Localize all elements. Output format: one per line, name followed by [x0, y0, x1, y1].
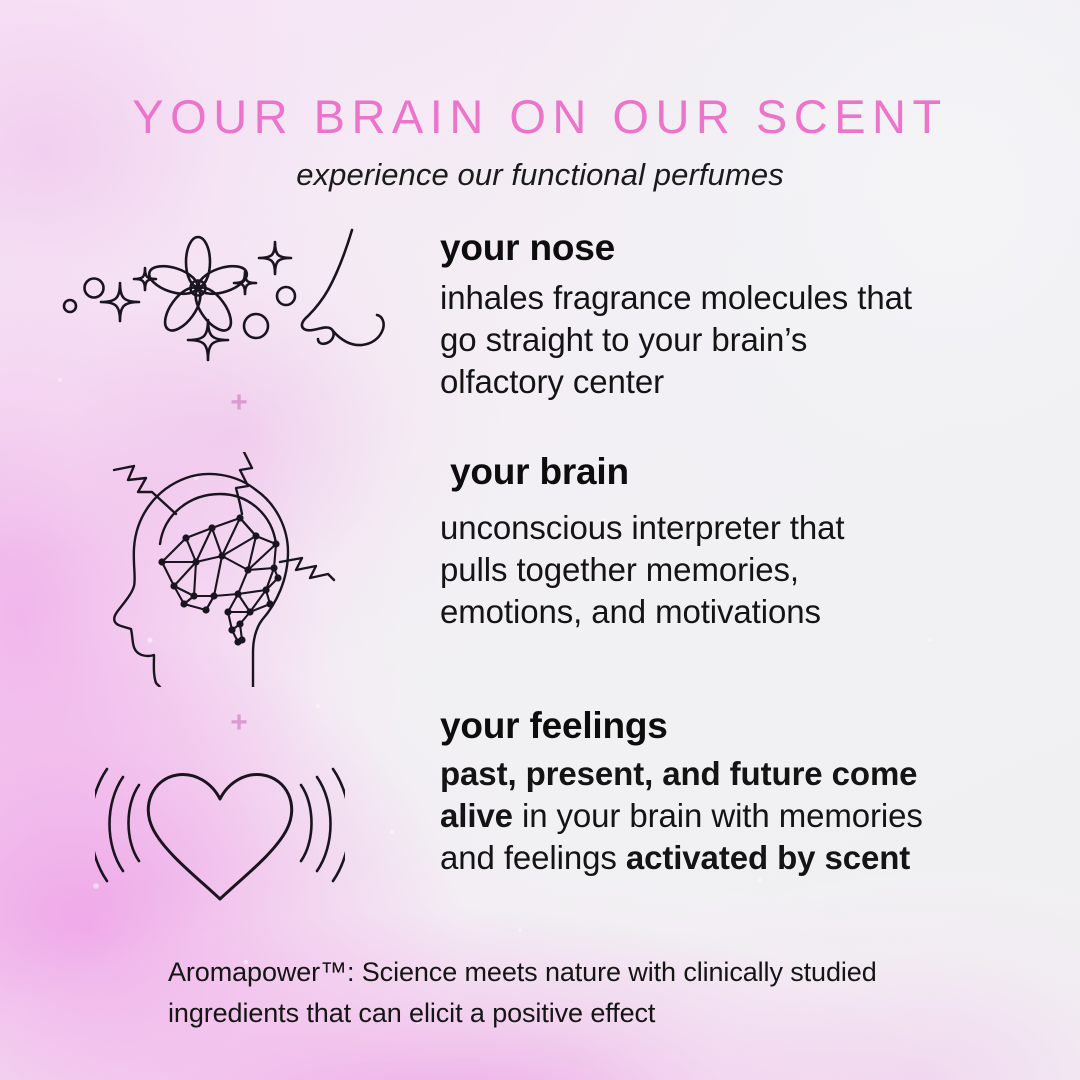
section-body-feelings: past, present, and future comealive in y… — [440, 753, 1044, 880]
body-run: in your brain with memories — [513, 797, 923, 834]
body-line: pulls together memories, — [440, 549, 1044, 591]
section-your-nose: your nose inhales fragrance molecules th… — [0, 228, 1080, 403]
plus-separator-1: + — [0, 388, 478, 418]
body-line: go straight to your brain’s — [440, 319, 1044, 361]
body-line: olfactory center — [440, 361, 1044, 403]
text-column-feelings: your feelings past, present, and future … — [440, 706, 1080, 879]
section-your-feelings: your feelings past, present, and future … — [0, 706, 1080, 911]
body-line: unconscious interpreter that — [440, 507, 1044, 549]
body-run: emotions, and motivations — [440, 593, 821, 630]
body-line: inhales fragrance molecules that — [440, 277, 1044, 319]
heart-vibrating-icon — [95, 761, 345, 911]
page-subtitle: experience our functional perfumes — [0, 157, 1080, 193]
icon-column-nose — [0, 228, 440, 378]
footer-disclaimer: Aromapower™: Science meets nature with c… — [168, 952, 968, 1034]
section-heading-brain: your brain — [450, 452, 1044, 493]
body-line: past, present, and future come — [440, 753, 1044, 795]
body-run-bold: activated by scent — [626, 839, 910, 876]
section-your-brain: your brain unconscious interpreter thatp… — [0, 452, 1080, 687]
header-block: YOUR BRAIN ON OUR SCENT experience our f… — [0, 92, 1080, 193]
body-line: and feelings activated by scent — [440, 837, 1044, 879]
text-column-nose: your nose inhales fragrance molecules th… — [440, 228, 1080, 403]
body-run: go straight to your brain’s — [440, 321, 807, 358]
body-run-bold: alive — [440, 797, 513, 834]
head-brain-network-icon — [90, 452, 350, 687]
page-title: YOUR BRAIN ON OUR SCENT — [0, 92, 1080, 141]
icon-column-feelings — [0, 706, 440, 911]
infographic-poster: YOUR BRAIN ON OUR SCENT experience our f… — [0, 0, 1080, 1080]
body-run: inhales fragrance molecules that — [440, 279, 912, 316]
body-run: pulls together memories, — [440, 551, 799, 588]
body-run: and feelings — [440, 839, 626, 876]
body-run: unconscious interpreter that — [440, 509, 844, 546]
text-column-brain: your brain unconscious interpreter thatp… — [440, 452, 1080, 633]
section-heading-feelings: your feelings — [440, 706, 1044, 747]
body-run-bold: past, present, and future come — [440, 755, 917, 792]
section-heading-nose: your nose — [440, 228, 1044, 269]
icon-column-brain — [0, 452, 440, 687]
body-line: alive in your brain with memories — [440, 795, 1044, 837]
section-body-brain: unconscious interpreter thatpulls togeth… — [440, 507, 1044, 634]
section-body-nose: inhales fragrance molecules thatgo strai… — [440, 277, 1044, 404]
flower-sparkles-nose-icon — [50, 228, 390, 378]
body-line: emotions, and motivations — [440, 591, 1044, 633]
